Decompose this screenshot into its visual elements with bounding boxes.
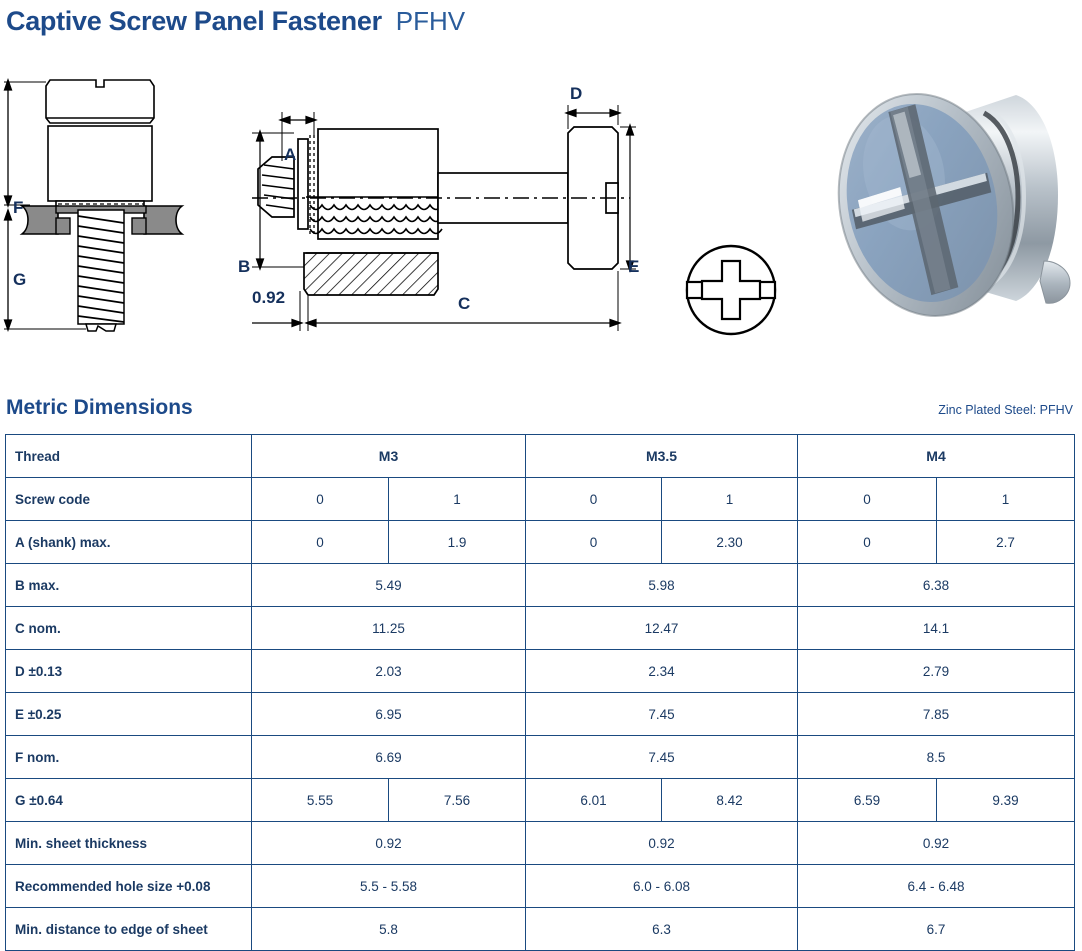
table-cell: 0 xyxy=(798,521,937,564)
dimension-label-F: F xyxy=(13,198,23,218)
table-cell: 11.25 xyxy=(252,607,526,650)
table-cell: 2.7 xyxy=(937,521,1075,564)
table-cell: 8.42 xyxy=(662,779,798,822)
dimension-label-A: A xyxy=(284,145,296,165)
table-row: G ±0.645.557.566.018.426.599.39 xyxy=(6,779,1075,822)
table-cell: 0.92 xyxy=(526,822,798,865)
page-title-main: Captive Screw Panel Fastener xyxy=(6,6,382,37)
page-title-product-code: PFHV xyxy=(396,6,465,37)
cross-section-drawing xyxy=(238,77,648,347)
table-cell: 0 xyxy=(526,521,662,564)
table-cell: 6.59 xyxy=(798,779,937,822)
row-label: E ±0.25 xyxy=(6,693,252,736)
table-cell: 6.38 xyxy=(798,564,1075,607)
row-label: G ±0.64 xyxy=(6,779,252,822)
page-title: Captive Screw Panel Fastener PFHV xyxy=(6,6,465,46)
table-cell: 5.49 xyxy=(252,564,526,607)
row-label: Min. sheet thickness xyxy=(6,822,252,865)
row-label: Recommended hole size +0.08 xyxy=(6,865,252,908)
dimension-label-E: E xyxy=(628,257,639,277)
table-cell: 6.69 xyxy=(252,736,526,779)
table-row: E ±0.256.957.457.85 xyxy=(6,693,1075,736)
table-row: Recommended hole size +0.085.5 - 5.586.0… xyxy=(6,865,1075,908)
combination-drive-detail-icon xyxy=(676,235,786,345)
row-label: D ±0.13 xyxy=(6,650,252,693)
table-cell: 0 xyxy=(798,478,937,521)
row-label: C nom. xyxy=(6,607,252,650)
table-cell: 2.03 xyxy=(252,650,526,693)
row-label: A (shank) max. xyxy=(6,521,252,564)
table-cell: 0 xyxy=(252,521,389,564)
section-heading: Metric Dimensions xyxy=(6,396,193,420)
dimension-label-C: C xyxy=(458,294,470,314)
table-cell: 0 xyxy=(526,478,662,521)
table-cell: 6.01 xyxy=(526,779,662,822)
material-note: Zinc Plated Steel: PFHV xyxy=(938,403,1073,417)
table-header-thread-M3_5: M3.5 xyxy=(526,435,798,478)
table-row: F nom.6.697.458.5 xyxy=(6,736,1075,779)
row-label: Min. distance to edge of sheet xyxy=(6,908,252,951)
table-row: Screw code010101 xyxy=(6,478,1075,521)
table-cell: 6.0 - 6.08 xyxy=(526,865,798,908)
table-cell: 1.9 xyxy=(389,521,526,564)
table-header-thread-M3: M3 xyxy=(252,435,526,478)
table-cell: 6.3 xyxy=(526,908,798,951)
row-label: B max. xyxy=(6,564,252,607)
table-cell: 7.56 xyxy=(389,779,526,822)
table-cell: 0.92 xyxy=(252,822,526,865)
table-cell: 9.39 xyxy=(937,779,1075,822)
table-row: B max.5.495.986.38 xyxy=(6,564,1075,607)
table-cell: 12.47 xyxy=(526,607,798,650)
table-cell: 1 xyxy=(389,478,526,521)
table-cell: 5.98 xyxy=(526,564,798,607)
row-label: Screw code xyxy=(6,478,252,521)
product-photo-3d xyxy=(808,55,1078,355)
table-cell: 1 xyxy=(662,478,798,521)
table-cell: 7.45 xyxy=(526,736,798,779)
table-cell: 8.5 xyxy=(798,736,1075,779)
table-row: A (shank) max.01.902.3002.7 xyxy=(6,521,1075,564)
table-row: D ±0.132.032.342.79 xyxy=(6,650,1075,693)
table-cell: 7.85 xyxy=(798,693,1075,736)
table-cell: 2.30 xyxy=(662,521,798,564)
dimension-label-D: D xyxy=(570,84,582,104)
table-header-thread-M4: M4 xyxy=(798,435,1075,478)
table-header-thread: Thread xyxy=(6,435,252,478)
table-cell: 5.5 - 5.58 xyxy=(252,865,526,908)
table-cell: 5.8 xyxy=(252,908,526,951)
table-cell: 2.34 xyxy=(526,650,798,693)
table-cell: 0 xyxy=(252,478,389,521)
table-cell: 1 xyxy=(937,478,1075,521)
table-row: C nom.11.2512.4714.1 xyxy=(6,607,1075,650)
metric-dimensions-table: ThreadM3M3.5M4Screw code010101A (shank) … xyxy=(5,434,1075,951)
dimension-label-B: B xyxy=(238,257,250,277)
row-label: F nom. xyxy=(6,736,252,779)
table-header-row: ThreadM3M3.5M4 xyxy=(6,435,1075,478)
table-cell: 0.92 xyxy=(798,822,1075,865)
table-cell: 14.1 xyxy=(798,607,1075,650)
table-cell: 6.95 xyxy=(252,693,526,736)
table-row: Min. distance to edge of sheet5.86.36.7 xyxy=(6,908,1075,951)
table-row: Min. sheet thickness0.920.920.92 xyxy=(6,822,1075,865)
table-cell: 7.45 xyxy=(526,693,798,736)
drawing-band: F G xyxy=(0,55,1082,365)
installed-side-view-drawing xyxy=(0,60,240,360)
dimension-label-min-sheet: 0.92 xyxy=(252,288,285,308)
dimension-label-G: G xyxy=(13,270,26,290)
table-cell: 6.7 xyxy=(798,908,1075,951)
table-cell: 2.79 xyxy=(798,650,1075,693)
table-cell: 6.4 - 6.48 xyxy=(798,865,1075,908)
table-cell: 5.55 xyxy=(252,779,389,822)
